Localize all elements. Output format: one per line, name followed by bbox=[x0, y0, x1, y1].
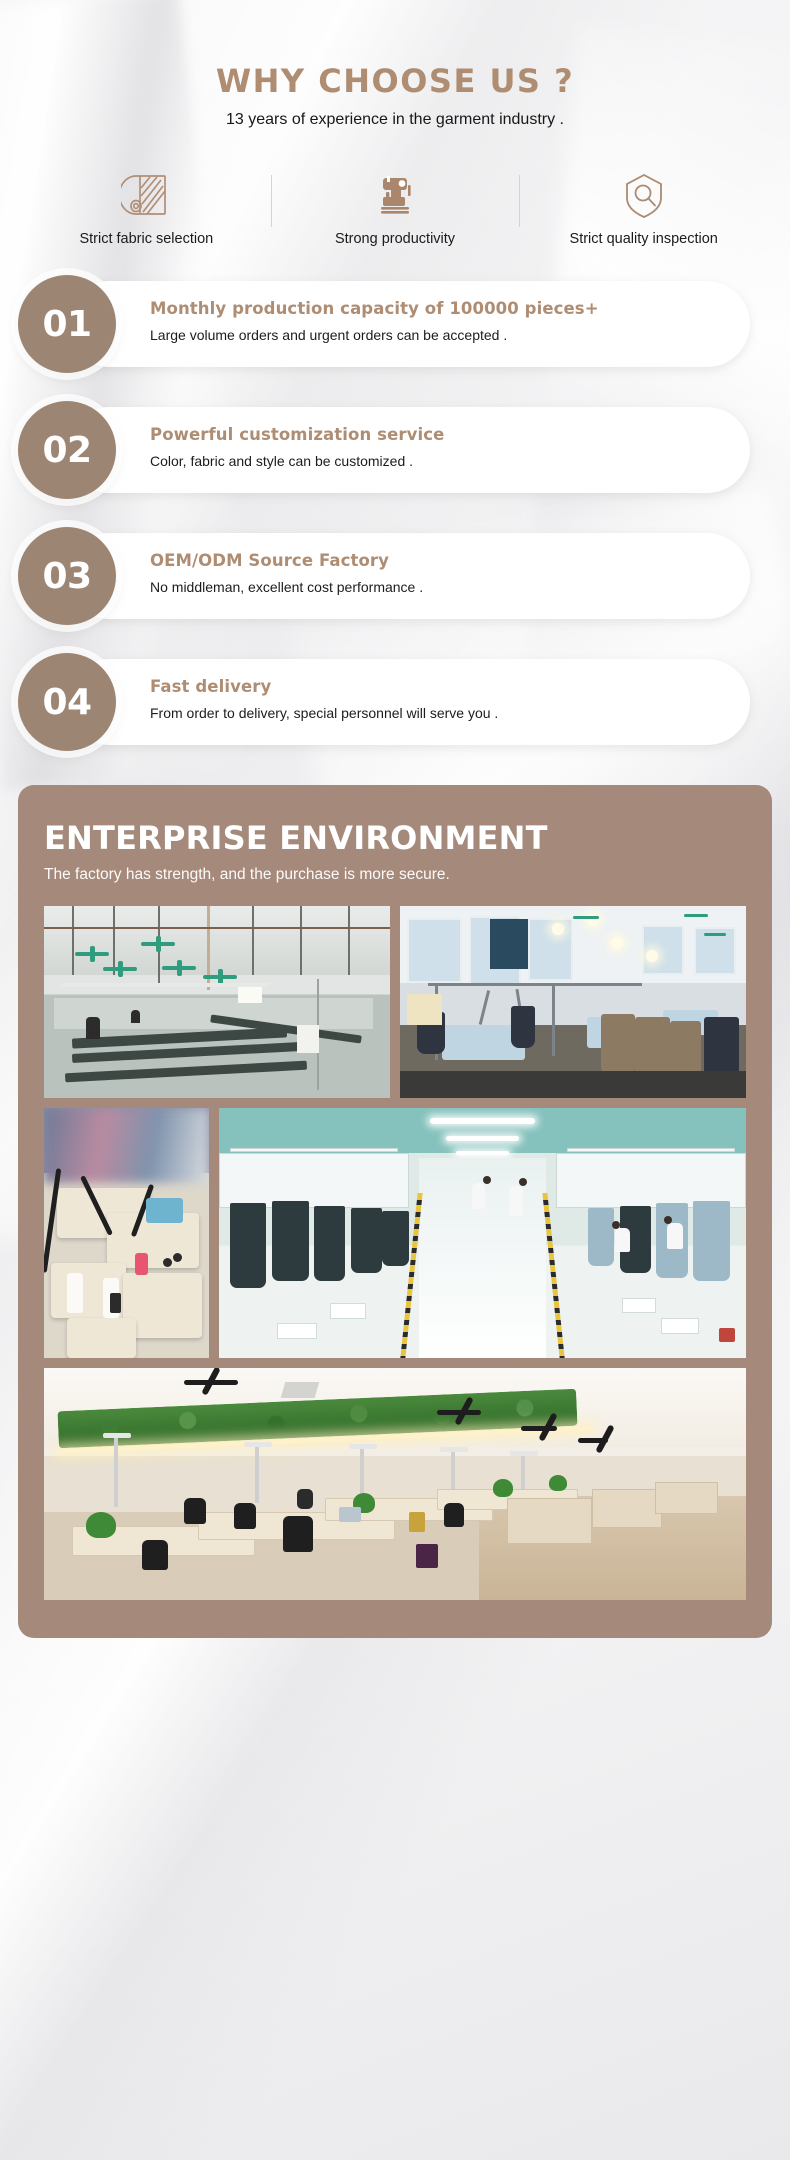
list-item-text: Monthly production capacity of 100000 pi… bbox=[150, 299, 732, 343]
list-item-heading: OEM/ODM Source Factory bbox=[150, 551, 732, 570]
sewing-floor-photo[interactable] bbox=[400, 906, 746, 1098]
list-item-description: Large volume orders and urgent orders ca… bbox=[150, 327, 732, 343]
office-interior-photo[interactable] bbox=[44, 1368, 746, 1600]
sewing-machine-icon bbox=[277, 169, 514, 221]
photo-grid bbox=[44, 906, 746, 1600]
enterprise-title: ENTERPRISE ENVIRONMENT bbox=[44, 819, 746, 857]
list-item[interactable]: 04 Fast delivery From order to delivery,… bbox=[18, 659, 772, 745]
feature-label: Strict fabric selection bbox=[28, 231, 265, 247]
feature-strict-fabric-selection: Strict fabric selection bbox=[22, 169, 271, 247]
fabric-roll-icon bbox=[28, 169, 265, 221]
enterprise-environment-panel: ENTERPRISE ENVIRONMENT The factory has s… bbox=[18, 785, 772, 1638]
list-item-text: Powerful customization service Color, fa… bbox=[150, 425, 732, 469]
list-item-heading: Fast delivery bbox=[150, 677, 732, 696]
shield-search-icon bbox=[525, 169, 762, 221]
feature-row: Strict fabric selection bbox=[0, 169, 790, 247]
page-subtitle: 13 years of experience in the garment in… bbox=[0, 111, 790, 129]
enterprise-subtitle: The factory has strength, and the purcha… bbox=[44, 866, 746, 884]
cutting-hall-photo[interactable] bbox=[44, 906, 390, 1098]
list-item-number-badge: 02 bbox=[18, 401, 116, 499]
list-item-number-badge: 03 bbox=[18, 527, 116, 625]
photo-row bbox=[44, 906, 746, 1098]
photo-row bbox=[44, 1368, 746, 1600]
list-item[interactable]: 02 Powerful customization service Color,… bbox=[18, 407, 772, 493]
feature-strong-productivity: Strong productivity bbox=[271, 169, 520, 247]
list-item-number-badge: 01 bbox=[18, 275, 116, 373]
benefits-list: 01 Monthly production capacity of 100000… bbox=[0, 281, 790, 745]
list-item-heading: Powerful customization service bbox=[150, 425, 732, 444]
list-item-text: Fast delivery From order to delivery, sp… bbox=[150, 677, 732, 721]
list-item-text: OEM/ODM Source Factory No middleman, exc… bbox=[150, 551, 732, 595]
list-item-description: From order to delivery, special personne… bbox=[150, 705, 732, 721]
list-item-description: Color, fabric and style can be customize… bbox=[150, 453, 732, 469]
feature-label: Strict quality inspection bbox=[525, 231, 762, 247]
feature-label: Strong productivity bbox=[277, 231, 514, 247]
production-line-aisle-photo[interactable] bbox=[219, 1108, 746, 1358]
list-item-number-badge: 04 bbox=[18, 653, 116, 751]
photo-row bbox=[44, 1108, 746, 1358]
list-item-description: No middleman, excellent cost performance… bbox=[150, 579, 732, 595]
sewing-machine-closeup-photo[interactable] bbox=[44, 1108, 209, 1358]
page-header: WHY CHOOSE US ? 13 years of experience i… bbox=[0, 0, 790, 129]
list-item[interactable]: 01 Monthly production capacity of 100000… bbox=[18, 281, 772, 367]
list-item-heading: Monthly production capacity of 100000 pi… bbox=[150, 299, 732, 318]
page-root: WHY CHOOSE US ? 13 years of experience i… bbox=[0, 0, 790, 2160]
feature-strict-quality-inspection: Strict quality inspection bbox=[519, 169, 768, 247]
page-title: WHY CHOOSE US ? bbox=[0, 62, 790, 100]
list-item[interactable]: 03 OEM/ODM Source Factory No middleman, … bbox=[18, 533, 772, 619]
